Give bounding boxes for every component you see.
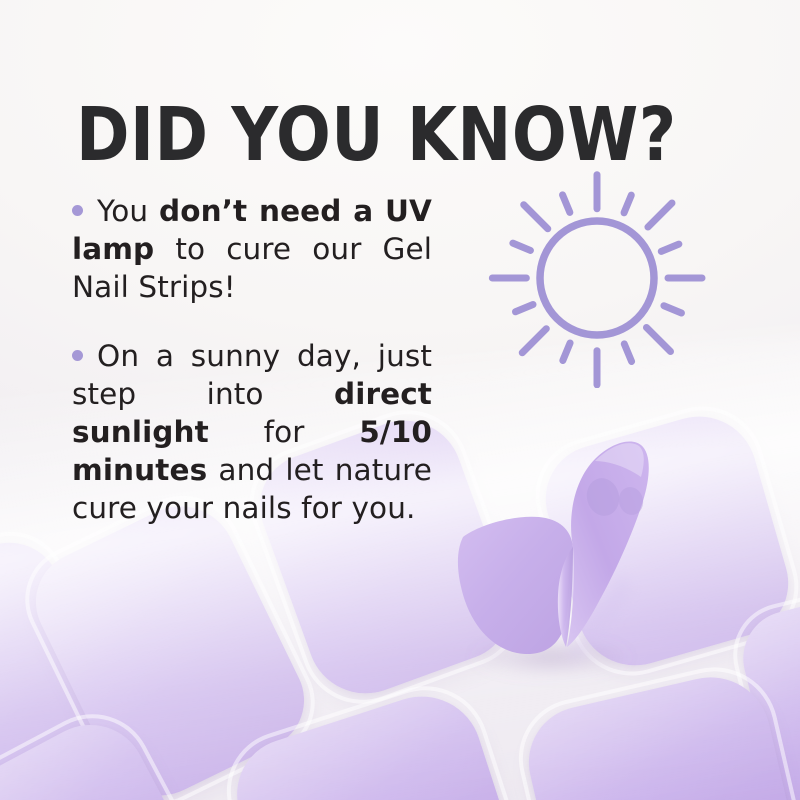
list-item: You don’t need a UV lamp to cure our Gel… — [72, 192, 432, 306]
page-title: DID YOU KNOW? — [76, 98, 715, 172]
sun-ray — [624, 344, 631, 362]
bullet-dot-icon — [72, 350, 83, 361]
sun-ray — [513, 243, 531, 250]
sun-ray — [646, 327, 670, 351]
sun-ray — [563, 343, 570, 361]
sun-ray — [563, 195, 570, 213]
fact-list: You don’t need a UV lamp to cure our Gel… — [72, 162, 432, 556]
sun-ray — [664, 306, 682, 313]
list-item: On a sunny day, just step into direct su… — [72, 337, 432, 527]
body-text: for — [209, 415, 359, 449]
sun-ray — [522, 329, 546, 353]
bullet-dot-icon — [72, 205, 83, 216]
sun-ray — [624, 195, 631, 213]
sun-disc — [540, 221, 654, 335]
sun-icon — [487, 168, 707, 388]
sun-ray — [515, 305, 533, 312]
poster-canvas: DID YOU KNOW? You don’t need a UV lamp t… — [0, 0, 800, 800]
sun-ray — [661, 244, 679, 251]
body-text: You — [97, 194, 159, 228]
sun-ray — [524, 205, 548, 229]
poster-content: DID YOU KNOW? You don’t need a UV lamp t… — [0, 0, 800, 800]
sun-ray — [648, 203, 672, 227]
